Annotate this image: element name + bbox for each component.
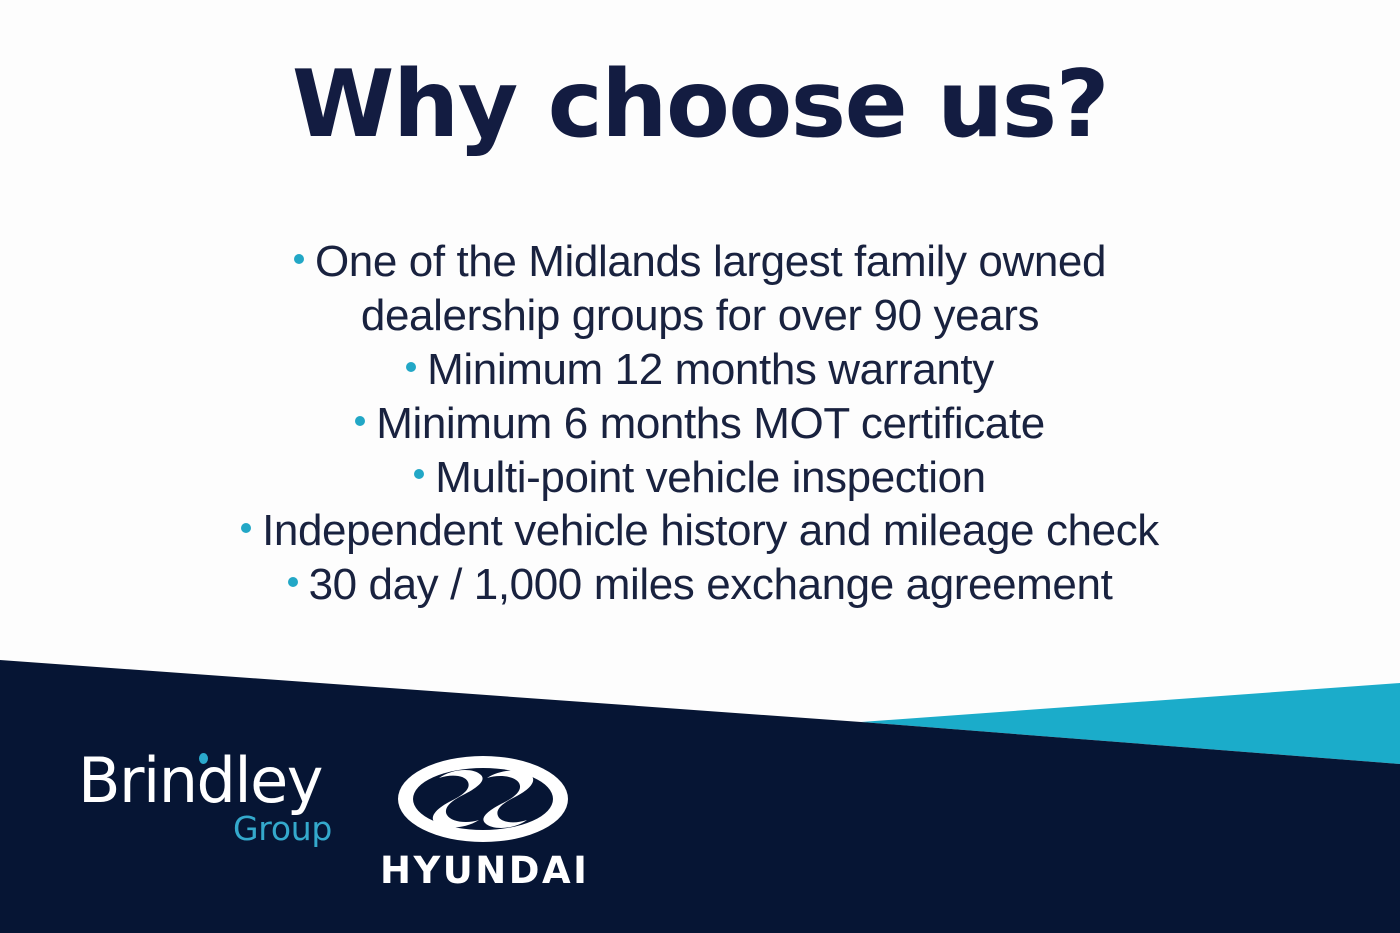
hyundai-logo: HYUNDAI: [380, 744, 586, 891]
list-item: Minimum 6 months MOT certificate: [0, 395, 1400, 449]
list-item-label: Independent vehicle history and mileage …: [262, 506, 1159, 555]
bullet-dot-icon: [406, 362, 416, 372]
brindley-dot-icon: [199, 753, 208, 764]
list-item-label: Multi-point vehicle inspection: [435, 452, 986, 501]
page-title-text: Why choose us?: [292, 56, 1108, 154]
bullet-dot-icon: [294, 254, 304, 264]
bullet-dot-icon: [355, 416, 365, 426]
list-item-label: Minimum 12 months warranty: [427, 345, 994, 394]
list-item-label: dealership groups for over 90 years: [361, 291, 1039, 340]
bullet-dot-icon: [414, 469, 424, 479]
list-item: Independent vehicle history and mileage …: [0, 502, 1400, 556]
list-item: Multi-point vehicle inspection: [0, 449, 1400, 503]
page-title: Why choose us?: [0, 56, 1400, 154]
list-item-label: 30 day / 1,000 miles exchange agreement: [309, 560, 1113, 609]
list-item: dealership groups for over 90 years: [0, 287, 1400, 341]
slide-canvas: Why choose us? One of the Midlands large…: [0, 0, 1400, 933]
bullet-dot-icon: [288, 577, 298, 587]
list-item-label: Minimum 6 months MOT certificate: [376, 399, 1045, 448]
hyundai-emblem-icon: [395, 754, 571, 844]
list-item-label: One of the Midlands largest family owned: [315, 237, 1106, 286]
footer-logo-row: Brindley Group HYUNDAI: [78, 744, 586, 891]
list-item: One of the Midlands largest family owned: [0, 233, 1400, 287]
brindley-group-logo: Brindley Group: [78, 744, 336, 848]
list-item: 30 day / 1,000 miles exchange agreement: [0, 556, 1400, 610]
bullet-dot-icon: [241, 523, 251, 533]
list-item: Minimum 12 months warranty: [0, 341, 1400, 395]
hyundai-wordmark: HYUNDAI: [380, 851, 586, 891]
benefits-list: One of the Midlands largest family owned…: [0, 233, 1400, 610]
